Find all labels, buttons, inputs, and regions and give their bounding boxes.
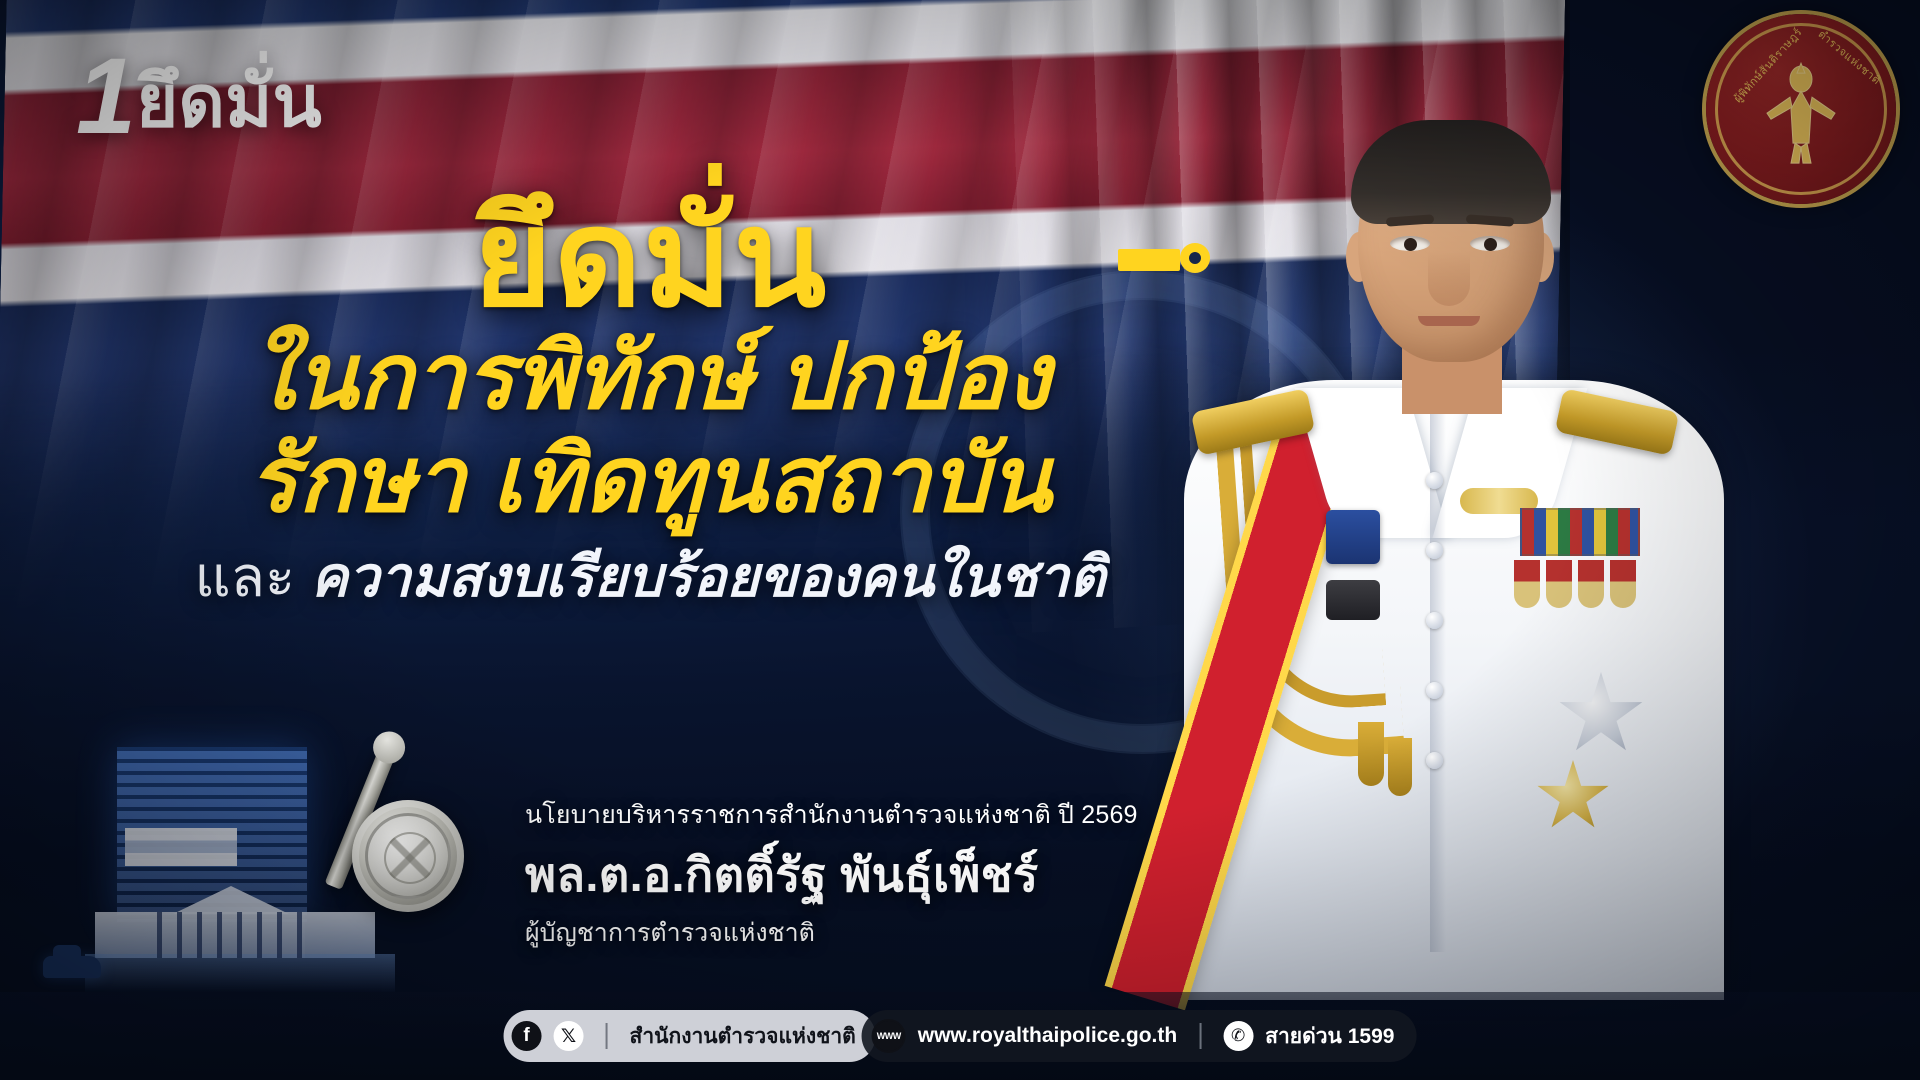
hair bbox=[1351, 120, 1551, 224]
hotline-label: สายด่วน 1599 bbox=[1265, 1020, 1394, 1053]
kicker-number: 1 bbox=[76, 52, 132, 141]
social-pill: f 𝕏 สำนักงานตำรวจแห่งชาติ bbox=[504, 1010, 876, 1062]
ribbon-bar bbox=[1520, 508, 1640, 556]
medal-group bbox=[1514, 560, 1654, 612]
kicker-word: ยึดมั่น bbox=[136, 68, 322, 140]
mouth bbox=[1418, 316, 1480, 326]
headline-line-4-emphasis: ความสงบเรียบร้อยของคนในชาติ bbox=[311, 545, 1106, 608]
commissioner-position: ผู้บัญชาการตำรวจแห่งชาติ bbox=[525, 913, 1138, 953]
headline-line-4-prefix: และ bbox=[195, 545, 311, 608]
police-vehicle-silhouette bbox=[43, 956, 101, 978]
policy-line: นโยบายบริหารราชการสำนักงานตำรวจแห่งชาติ … bbox=[525, 795, 1138, 835]
footer-divider bbox=[606, 1023, 608, 1049]
phone-icon: ✆ bbox=[1223, 1021, 1253, 1051]
medal bbox=[1610, 560, 1636, 608]
silver-medallion bbox=[352, 800, 464, 912]
kicker-heading: 1 ยึดมั่น bbox=[76, 52, 322, 141]
building-ground-glow bbox=[85, 954, 395, 992]
commissioner-name: พล.ต.อ.กิตติ์รัฐ พันธุ์เพ็ชร์ bbox=[525, 837, 1138, 912]
building-pediment bbox=[173, 886, 289, 914]
headline-block: ยึดมั่น ในการพิทักษ์ ปกป้อง รักษา เทิดทู… bbox=[0, 190, 1300, 612]
footer-bar: f 𝕏 สำนักงานตำรวจแห่งชาติ WWW www.royalt… bbox=[0, 992, 1920, 1080]
medal bbox=[1546, 560, 1572, 608]
aiguillette-tassel bbox=[1388, 738, 1412, 796]
officer-portrait bbox=[1130, 112, 1750, 992]
name-plate-badge bbox=[1326, 580, 1380, 620]
building-flag-stripe bbox=[125, 828, 237, 866]
pupil-left bbox=[1404, 238, 1417, 251]
headline-line-2: ในการพิทักษ์ ปกป้อง bbox=[0, 326, 1300, 429]
aiguillette-tassel bbox=[1358, 722, 1384, 786]
headline-line-1: ยึดมั่น bbox=[0, 190, 1300, 326]
uniform-button bbox=[1426, 682, 1443, 699]
headline-line-4: และ ความสงบเรียบร้อยของคนในชาติ bbox=[0, 542, 1300, 612]
building-columns bbox=[157, 912, 305, 958]
pupil-right bbox=[1484, 238, 1497, 251]
uniform-button bbox=[1426, 472, 1443, 489]
x-twitter-icon[interactable]: 𝕏 bbox=[554, 1021, 584, 1051]
uniform-button bbox=[1426, 542, 1443, 559]
footer-content: f 𝕏 สำนักงานตำรวจแห่งชาติ WWW www.royalt… bbox=[504, 1010, 1417, 1062]
website-url[interactable]: www.royalthaipolice.go.th bbox=[918, 1024, 1177, 1048]
globe-www-icon: WWW bbox=[872, 1019, 906, 1053]
rank-badge bbox=[1326, 510, 1380, 564]
footer-divider bbox=[1199, 1023, 1201, 1049]
garuda-figure-icon bbox=[1753, 57, 1849, 165]
social-handle-label: สำนักงานตำรวจแห่งชาติ bbox=[630, 1020, 856, 1053]
uniform-button bbox=[1426, 612, 1443, 629]
nose bbox=[1428, 252, 1470, 306]
headline-line-3: รักษา เทิดทูนสถาบัน bbox=[0, 429, 1300, 532]
facebook-icon[interactable]: f bbox=[512, 1021, 542, 1051]
website-hotline-pill: WWW www.royalthaipolice.go.th ✆ สายด่วน … bbox=[862, 1010, 1417, 1062]
medal bbox=[1514, 560, 1540, 608]
police-policy-poster: ผู้พิทักษ์สันติราษฎร์ ตำรวจแห่งชาติ 1 ยึ… bbox=[0, 0, 1920, 1080]
credit-block: นโยบายบริหารราชการสำนักงานตำรวจแห่งชาติ … bbox=[525, 795, 1138, 953]
medal bbox=[1578, 560, 1604, 608]
uniform-button bbox=[1426, 752, 1443, 769]
